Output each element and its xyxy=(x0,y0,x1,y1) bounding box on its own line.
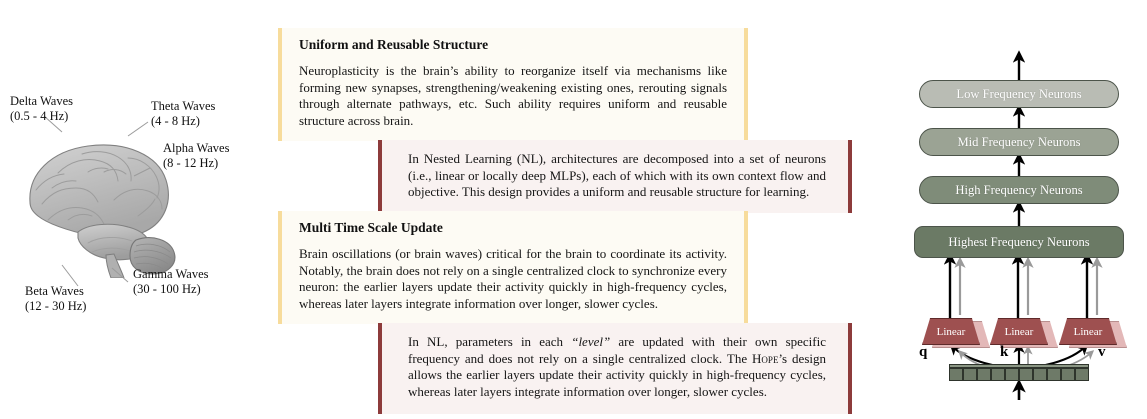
level-pill-high[interactable]: High Frequency Neurons xyxy=(919,176,1119,204)
qkv-label-v: v xyxy=(1098,344,1106,361)
brain-label-theta: Theta Waves (4 - 8 Hz) xyxy=(151,99,215,129)
qkv-label-k: k xyxy=(1000,344,1008,361)
level-pill-highest-label: Highest Frequency Neurons xyxy=(948,235,1089,250)
brain-label-beta: Beta Waves (12 - 30 Hz) xyxy=(25,284,86,314)
panel-multitime-title: Multi Time Scale Update xyxy=(299,220,727,236)
linear-v-label: Linear xyxy=(1074,326,1103,338)
token-cube xyxy=(963,368,977,381)
level-pill-high-label: High Frequency Neurons xyxy=(955,183,1082,198)
brain-label-gamma: Gamma Waves (30 - 100 Hz) xyxy=(133,267,208,297)
token-cube xyxy=(991,368,1005,381)
panel-nl-multitime-body: In NL, parameters in each “level” are up… xyxy=(408,334,826,400)
brain-label-beta-range: (12 - 30 Hz) xyxy=(25,299,86,314)
linear-k-label: Linear xyxy=(1005,326,1034,338)
linear-q-box[interactable]: Linear xyxy=(922,318,980,345)
brain-label-theta-title: Theta Waves xyxy=(151,99,215,113)
level-pill-mid-label: Mid Frequency Neurons xyxy=(957,135,1080,150)
token-cube xyxy=(1075,368,1089,381)
token-cube xyxy=(1019,368,1033,381)
brain-label-beta-title: Beta Waves xyxy=(25,284,84,298)
level-pill-mid[interactable]: Mid Frequency Neurons xyxy=(919,128,1119,156)
brain-label-theta-range: (4 - 8 Hz) xyxy=(151,114,215,129)
panel-multi-time-scale-update: Multi Time Scale Update Brain oscillatio… xyxy=(278,211,748,324)
token-strip-top-face xyxy=(949,364,1089,368)
level-pill-low-label: Low Frequency Neurons xyxy=(956,87,1081,102)
brain-illustration-panel: Delta Waves (0.5 - 4 Hz) Theta Waves (4 … xyxy=(0,0,278,419)
linear-k-box[interactable]: Linear xyxy=(990,318,1048,345)
nl-multitime-prefix: In NL, parameters in each xyxy=(408,334,571,349)
brain-label-gamma-title: Gamma Waves xyxy=(133,267,208,281)
qkv-label-q: q xyxy=(919,344,927,361)
panel-uniform-body: Neuroplasticity is the brain’s ability t… xyxy=(299,63,727,129)
brain-label-alpha-title: Alpha Waves xyxy=(163,141,229,155)
nl-multitime-level-term: “level” xyxy=(571,334,610,349)
panel-nl-uniform-body: In Nested Learning (NL), architectures a… xyxy=(408,151,826,201)
panel-multitime-body: Brain oscillations (or brain waves) crit… xyxy=(299,246,727,312)
brain-label-alpha: Alpha Waves (8 - 12 Hz) xyxy=(163,141,229,171)
panel-nl-uniform-structure: In Nested Learning (NL), architectures a… xyxy=(378,140,852,213)
token-cube xyxy=(1061,368,1075,381)
panel-nl-multi-time-scale: In NL, parameters in each “level” are up… xyxy=(378,323,852,414)
level-pill-low[interactable]: Low Frequency Neurons xyxy=(919,80,1119,108)
brain-label-delta: Delta Waves (0.5 - 4 Hz) xyxy=(10,94,73,124)
architecture-diagram: Low Frequency Neurons Mid Frequency Neur… xyxy=(890,0,1147,419)
linear-v-box[interactable]: Linear xyxy=(1059,318,1117,345)
projection-shadow-arrows xyxy=(960,0,1147,315)
level-pill-highest[interactable]: Highest Frequency Neurons xyxy=(914,226,1124,258)
token-cube xyxy=(977,368,991,381)
nl-multitime-hope-term: Hope xyxy=(752,351,778,366)
brain-label-delta-range: (0.5 - 4 Hz) xyxy=(10,109,73,124)
brain-label-delta-title: Delta Waves xyxy=(10,94,73,108)
token-strip xyxy=(949,368,1089,383)
label-leader-lines xyxy=(0,0,278,419)
panel-uniform-title: Uniform and Reusable Structure xyxy=(299,37,727,53)
token-cube xyxy=(949,368,963,381)
panel-uniform-reusable-structure: Uniform and Reusable Structure Neuroplas… xyxy=(278,28,748,141)
diagram-arrows xyxy=(890,0,1147,419)
projection-arrows xyxy=(950,256,1087,318)
token-cube xyxy=(1047,368,1061,381)
brain-label-gamma-range: (30 - 100 Hz) xyxy=(133,282,208,297)
token-cube xyxy=(1033,368,1047,381)
brain-label-alpha-range: (8 - 12 Hz) xyxy=(163,156,229,171)
token-cube xyxy=(1005,368,1019,381)
linear-q-label: Linear xyxy=(937,326,966,338)
